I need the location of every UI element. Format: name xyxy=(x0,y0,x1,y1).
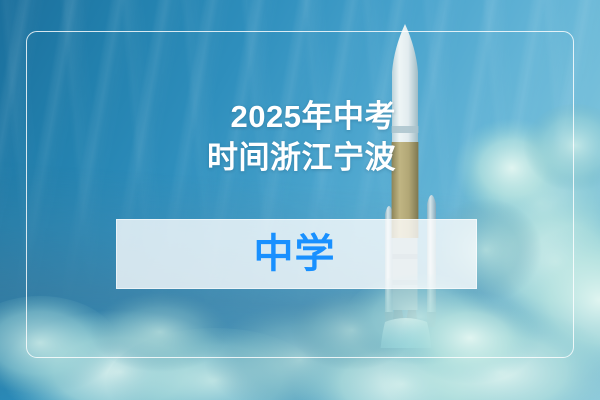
banner-image: 2025年中考 时间浙江宁波 中学 xyxy=(0,0,600,400)
subtitle-text: 中学 xyxy=(254,234,336,274)
title-line-1: 2025年中考 xyxy=(0,96,396,137)
subtitle-bar: 中学 xyxy=(116,219,477,289)
banner-title: 2025年中考 时间浙江宁波 xyxy=(0,96,396,178)
decorative-frame xyxy=(26,31,574,358)
title-line-2: 时间浙江宁波 xyxy=(0,137,396,178)
